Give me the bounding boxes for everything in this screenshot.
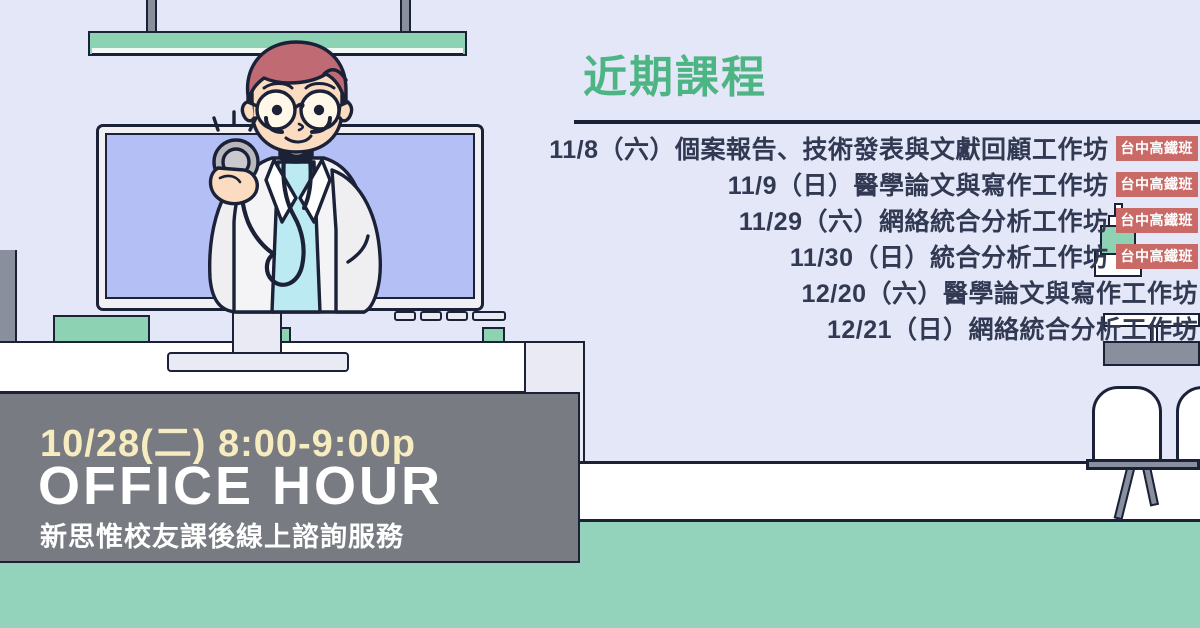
chair-seat	[1086, 459, 1200, 470]
list-item[interactable]: 11/8（六）個案報告、技術發表與文獻回顧工作坊 台中高鐵班	[574, 130, 1200, 166]
status-badge: 台中高鐵班	[1116, 244, 1199, 269]
banner-title: OFFICE HOUR	[38, 455, 443, 517]
page-title: 近期課程	[583, 56, 767, 100]
lamp-rod-right	[400, 0, 411, 34]
list-item[interactable]: 11/30（日）統合分析工作坊 台中高鐵班	[574, 238, 1200, 274]
status-badge: 台中高鐵班	[1116, 208, 1199, 233]
course-title: 11/30（日）統合分析工作坊	[790, 238, 1109, 274]
banner-subtitle: 新思惟校友課後線上諮詢服務	[40, 515, 404, 554]
list-item[interactable]: 12/20（六）醫學論文與寫作工作坊	[574, 274, 1200, 310]
lamp-rod-left	[146, 0, 157, 34]
status-badge: 台中高鐵班	[1116, 136, 1199, 161]
course-list: 11/8（六）個案報告、技術發表與文獻回顧工作坊 台中高鐵班 11/9（日）醫學…	[574, 130, 1200, 346]
chair-backrest	[1176, 386, 1200, 468]
course-title: 11/29（六）網絡統合分析工作坊	[739, 202, 1109, 238]
course-title: 11/8（六）個案報告、技術發表與文獻回顧工作坊	[549, 130, 1108, 166]
poster-canvas: 近期課程 11/8（六）個案報告、技術發表與文獻回顧工作坊 台中高鐵班 11/9…	[0, 0, 1200, 628]
course-title: 11/9（日）醫學論文與寫作工作坊	[728, 166, 1109, 202]
list-item[interactable]: 12/21（日）網絡統合分析工作坊	[574, 310, 1200, 346]
course-title: 12/21（日）網絡統合分析工作坊	[827, 310, 1198, 346]
list-item[interactable]: 11/29（六）網絡統合分析工作坊 台中高鐵班	[574, 202, 1200, 238]
status-badge: 台中高鐵班	[1116, 172, 1199, 197]
list-item[interactable]: 11/9（日）醫學論文與寫作工作坊 台中高鐵班	[574, 166, 1200, 202]
chair-backrest	[1092, 386, 1162, 468]
title-divider	[574, 120, 1200, 124]
course-title: 12/20（六）醫學論文與寫作工作坊	[801, 274, 1198, 310]
doctor-illustration	[96, 40, 486, 340]
monitor-base	[167, 352, 349, 372]
